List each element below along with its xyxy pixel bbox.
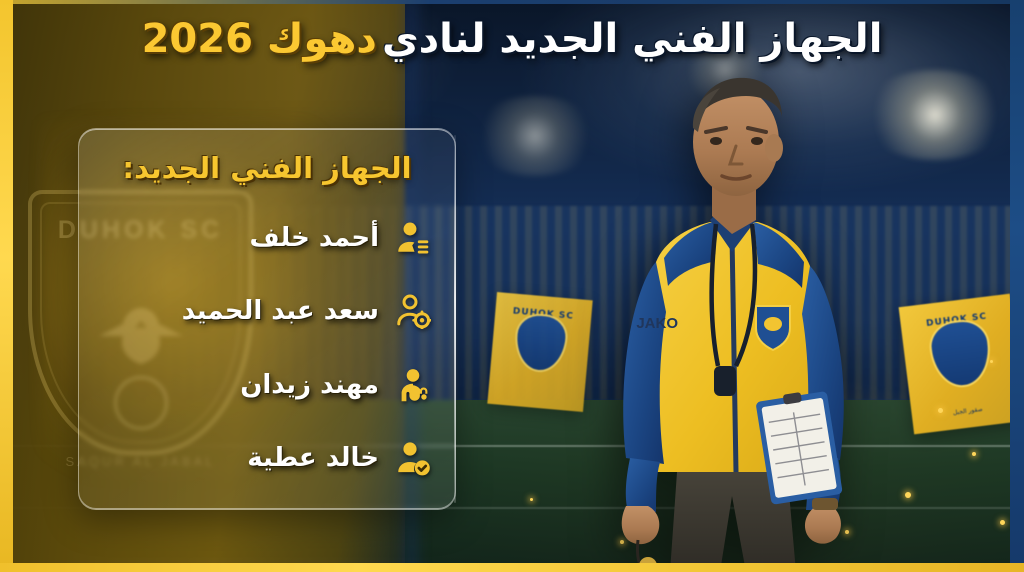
supporter-flag: DUHOK SC صقور الجبل	[899, 294, 1024, 435]
jako-brand-text: JAKO	[636, 315, 678, 332]
user-check-icon	[393, 438, 433, 478]
frame-right-border	[1010, 0, 1024, 572]
user-gear-icon	[393, 291, 433, 331]
user-doctor-icon	[393, 365, 433, 405]
list-item[interactable]: أحمد خلف	[101, 218, 433, 258]
frame-top-border	[0, 0, 1024, 4]
list-item[interactable]: مهند زيدان	[101, 365, 433, 405]
staff-name: أحمد خلف	[101, 223, 379, 253]
spark-particle	[972, 452, 976, 456]
spark-particle	[905, 492, 911, 498]
user-tie-icon	[393, 218, 433, 258]
frame-bottom-border	[0, 563, 1024, 572]
coach-figure: JAKO	[560, 66, 900, 572]
list-item[interactable]: سعد عبد الحميد	[101, 291, 433, 331]
list-item[interactable]: خالد عطية	[101, 438, 433, 478]
flag-badge	[927, 317, 995, 392]
poster-title: الجهاز الفني الجديد لنادي دهوك 2026	[0, 16, 1024, 63]
spark-particle	[990, 360, 993, 363]
spark-particle	[1000, 520, 1005, 525]
staff-name: مهند زيدان	[101, 370, 379, 400]
staff-card-heading: الجهاز الفني الجديد:	[101, 151, 433, 185]
title-highlight-text: دهوك 2026	[142, 16, 377, 63]
staff-list: أحمد خلف سعد عبد الحميد مهند زيدان خالد …	[101, 201, 433, 495]
title-main-text: الجهاز الفني الجديد لنادي	[382, 16, 882, 63]
staff-card: الجهاز الفني الجديد: أحمد خلف سعد عبد ال…	[78, 128, 456, 510]
frame-left-border	[0, 0, 13, 572]
staff-name: سعد عبد الحميد	[101, 296, 379, 326]
flag-sublabel: صقور الجبل	[912, 401, 1024, 422]
poster-canvas: DUHOK SC صقور الجبل DUHOK SC	[0, 0, 1024, 572]
staff-name: خالد عطية	[101, 443, 379, 473]
spark-particle	[938, 408, 943, 413]
spark-particle	[530, 498, 533, 501]
